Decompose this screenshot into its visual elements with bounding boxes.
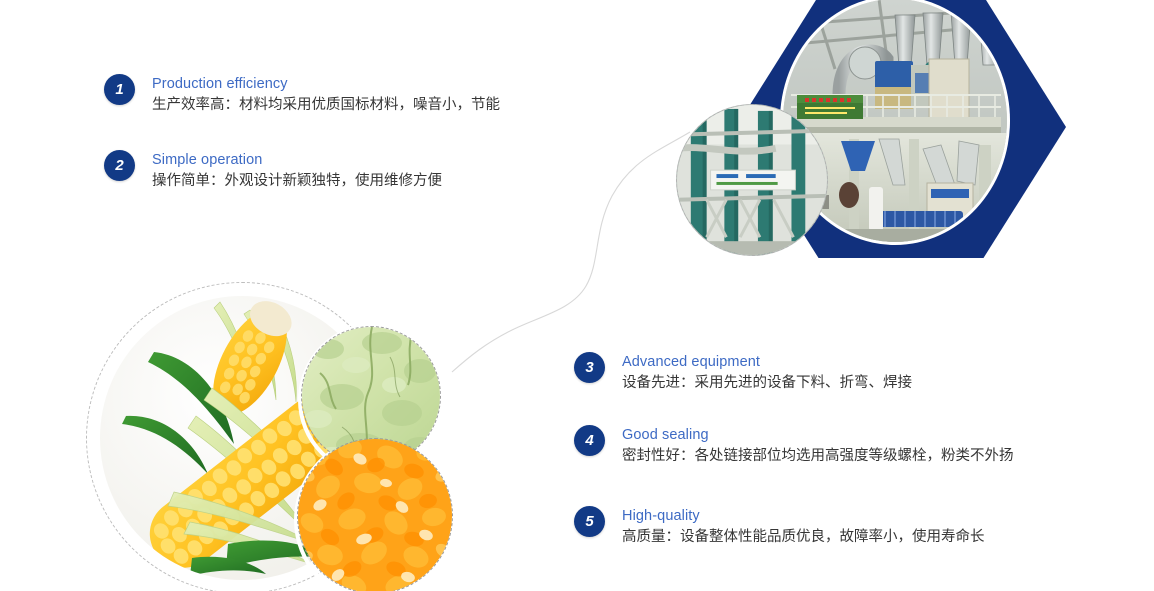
- feature-text-1: Production efficiency 生产效率高：材料均采用优质国标材料，…: [152, 74, 500, 115]
- feature-title-3: Advanced equipment: [622, 353, 912, 372]
- feature-badge-1: 1: [104, 74, 135, 105]
- feature-item-1[interactable]: 1 Production efficiency 生产效率高：材料均采用优质国标材…: [104, 74, 500, 115]
- feature-badge-2: 2: [104, 150, 135, 181]
- feature-description-5: 高质量：设备整体性能品质优良，故障率小，使用寿命长: [622, 527, 985, 547]
- factory-photo-cluster: [668, 0, 1068, 258]
- feature-description-4: 密封性好：各处链接部位均选用高强度等级螺栓，粉类不外扬: [622, 446, 1014, 466]
- factory-line-photo: [676, 104, 828, 256]
- feature-badge-5: 5: [574, 506, 605, 537]
- feature-description-1: 生产效率高：材料均采用优质国标材料，噪音小，节能: [152, 95, 500, 115]
- feature-title-2: Simple operation: [152, 151, 442, 170]
- feature-item-4[interactable]: 4 Good sealing 密封性好：各处链接部位均选用高强度等级螺栓，粉类不…: [574, 425, 1014, 466]
- feature-item-3[interactable]: 3 Advanced equipment 设备先进：采用先进的设备下料、折弯、焊…: [574, 352, 912, 393]
- feature-text-3: Advanced equipment 设备先进：采用先进的设备下料、折弯、焊接: [622, 352, 912, 393]
- feature-badge-3: 3: [574, 352, 605, 383]
- corn-photo-cluster: [86, 282, 486, 591]
- feature-description-2: 操作简单：外观设计新颖独特，使用维修方便: [152, 171, 442, 191]
- feature-text-4: Good sealing 密封性好：各处链接部位均选用高强度等级螺栓，粉类不外扬: [622, 425, 1014, 466]
- feature-title-1: Production efficiency: [152, 75, 500, 94]
- feature-text-2: Simple operation 操作简单：外观设计新颖独特，使用维修方便: [152, 150, 442, 191]
- feature-title-5: High-quality: [622, 507, 985, 526]
- feature-text-5: High-quality 高质量：设备整体性能品质优良，故障率小，使用寿命长: [622, 506, 985, 547]
- infographic-canvas: 1 Production efficiency 生产效率高：材料均采用优质国标材…: [0, 0, 1154, 591]
- feature-description-3: 设备先进：采用先进的设备下料、折弯、焊接: [622, 373, 912, 393]
- feature-badge-4: 4: [574, 425, 605, 456]
- feature-item-2[interactable]: 2 Simple operation 操作简单：外观设计新颖独特，使用维修方便: [104, 150, 442, 191]
- feature-item-5[interactable]: 5 High-quality 高质量：设备整体性能品质优良，故障率小，使用寿命长: [574, 506, 985, 547]
- feature-title-4: Good sealing: [622, 426, 1014, 445]
- grits-circle-dashed-ring: [297, 438, 453, 591]
